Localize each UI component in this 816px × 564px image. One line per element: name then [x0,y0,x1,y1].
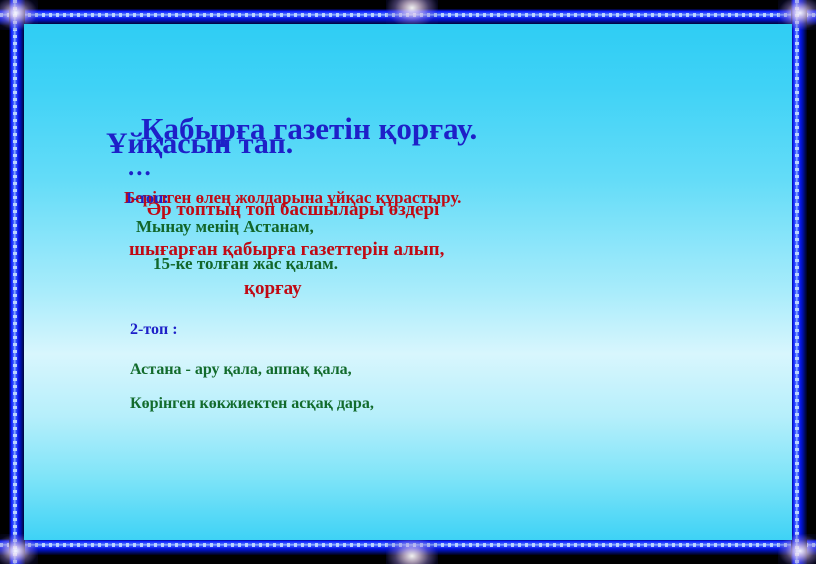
group-2-label: 2-топ : [130,321,178,338]
group-1-verse-line-2: 15-ке толған жас қалам. [153,255,338,273]
presentation-slide: Қабырға газетін қорғау. Ұйқасын тап. ...… [0,0,816,564]
slide-canvas: Қабырға газетін қорғау. Ұйқасын тап. ...… [24,24,792,540]
group-2-verse-line-2: Көрінген көкжиектен асқақ дара, [130,395,374,412]
group-1-verse-line-1: Мынау менің Астанам, [136,218,314,236]
decorative-border-left [9,0,25,564]
decorative-border-right [791,0,807,564]
instruction-line-4: қорғау [244,279,302,300]
group-2-verse-line-1: Астана - ару қала, аппақ қала, [130,361,352,378]
decorative-border-top [0,9,816,25]
decorative-border-bottom [0,539,816,555]
ellipsis-marker: ... [128,154,153,181]
